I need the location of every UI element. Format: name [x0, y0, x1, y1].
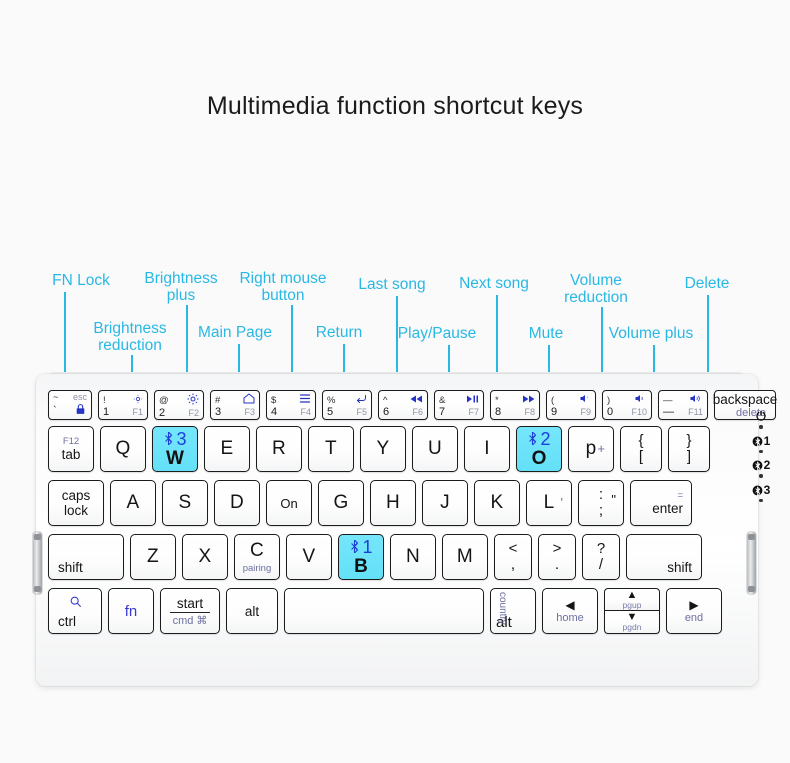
key-o[interactable]: 2O [516, 426, 562, 472]
key-sublabel: pairing [243, 563, 272, 574]
key-label: enter [652, 501, 683, 516]
key-legend-bot-left: 7 [439, 407, 445, 418]
key-e[interactable]: E [204, 426, 250, 472]
key-right-arrow[interactable]: ▶end [666, 588, 722, 634]
callout-label-next-song: Next song [459, 275, 529, 292]
key-fn[interactable]: fn [108, 588, 154, 634]
arrow-glyph: ▲ [627, 590, 638, 600]
key-7-f7[interactable]: &7F7 [434, 390, 484, 420]
key-cap: T [325, 438, 337, 460]
indicator-led [759, 450, 763, 454]
indicator-led [759, 425, 763, 429]
key-legend-bot-right: F7 [468, 407, 479, 418]
key-legend-top-left: % [327, 395, 335, 406]
key-d[interactable]: D [214, 480, 260, 526]
key-legend-top-left: @ [159, 395, 169, 406]
key-legend-bot-left: 3 [215, 407, 221, 418]
key-enter[interactable]: =enter [630, 480, 692, 526]
indicator-symbol: 2 [764, 459, 771, 472]
callout-label-volume-plus: Volume plus [609, 325, 693, 342]
key-legend-upper: } [686, 433, 691, 449]
key-label: backspace [713, 392, 778, 407]
key-p[interactable]: p+ [568, 426, 614, 472]
callout-label-return: Return [316, 324, 363, 341]
key-tab[interactable]: F12tab [48, 426, 94, 472]
arrow-glyph: ◀ [565, 598, 574, 612]
key-legend-bot-right: F1 [132, 407, 143, 418]
next-track-icon [522, 394, 535, 407]
key-v[interactable]: V [286, 534, 332, 580]
key-cap: G [333, 492, 348, 514]
key-cap: C [250, 540, 264, 562]
key-9-f9[interactable]: (9F9 [546, 390, 596, 420]
key-legend-upper: : [599, 487, 603, 503]
key-sublabel: home [556, 612, 584, 624]
lock-icon [74, 403, 87, 419]
key-legend-bot-right: F11 [688, 407, 703, 418]
key-sublabel-top: = [677, 490, 683, 501]
key-ctrl[interactable]: ctrl [48, 588, 102, 634]
key-z[interactable]: Z [130, 534, 176, 580]
key-sublabel: end [685, 612, 703, 624]
volume-down-icon [634, 393, 647, 407]
key-cap: E [221, 438, 234, 460]
key-slash[interactable]: ?/ [582, 534, 620, 580]
key-q[interactable]: Q [100, 426, 146, 472]
callout-label-fn-lock: FN Lock [52, 272, 110, 289]
key-cap: L [544, 492, 555, 514]
hinge-right [747, 532, 756, 594]
key-j[interactable]: J [422, 480, 468, 526]
key-cap: R [272, 438, 286, 460]
key-bracket-right[interactable]: }] [668, 426, 710, 472]
key-legend-bot-right: F4 [300, 407, 311, 418]
key-legend-bot-left: 5 [327, 407, 333, 418]
key-cap: Q [115, 438, 130, 460]
bottom-row: ctrlfnstartcmd ⌘altcountryalt◀home▲pgup▼… [48, 588, 722, 634]
key-label: start [177, 596, 203, 611]
key-a[interactable]: A [110, 480, 156, 526]
key-label: shift [667, 560, 701, 579]
bluetooth-icon [163, 430, 174, 448]
key-label: tab [62, 447, 81, 462]
key-shift-left[interactable]: shift [48, 534, 124, 580]
key-cap: M [457, 546, 473, 568]
key-i[interactable]: I [464, 426, 510, 472]
shift-row: shiftZXCpairingV1BNM<,>.?/shift [48, 534, 702, 580]
brightness-up-icon [187, 393, 199, 408]
bluetooth-2-indicator: 2 [752, 459, 771, 478]
key-legend-bot-right: F2 [188, 408, 199, 419]
indicator-symbol: ⏻ [756, 410, 766, 423]
key-alt-right[interactable]: countryalt [490, 588, 536, 634]
key-space[interactable] [284, 588, 484, 634]
key-k[interactable]: K [474, 480, 520, 526]
key-legend-bot-left: 6 [383, 407, 389, 418]
key-legend-top-left: ! [103, 395, 106, 406]
key-legend-bot-left: 9 [551, 407, 557, 418]
key-start[interactable]: startcmd ⌘ [160, 588, 220, 634]
page-title: Multimedia function shortcut keys [0, 92, 790, 121]
key-8-f8[interactable]: *8F8 [490, 390, 540, 420]
key-cap: B [354, 557, 368, 577]
key-minus-f11[interactable]: ——F11 [658, 390, 708, 420]
key-legend-upper: ? [597, 541, 605, 557]
key-legend-top-left: — [663, 395, 673, 406]
bluetooth-3-indicator: 3 [752, 484, 771, 503]
key-legend-bot-left: 1 [103, 407, 109, 418]
key-4-f4[interactable]: $4F4 [266, 390, 316, 420]
keyboard-body: ~esc`!1F1@2F2#3F3$4F4%5F5^6F6&7F7*8F8(9F… [36, 374, 758, 686]
key-legend-top-left: # [215, 395, 220, 406]
key-legend-bot-right: F8 [524, 407, 535, 418]
key-legend-side: ' [561, 495, 563, 510]
mute-icon [579, 393, 591, 407]
key-3-f3[interactable]: #3F3 [210, 390, 260, 420]
bluetooth-channel: 3 [163, 430, 186, 448]
key-label: alt [245, 604, 259, 619]
key-n[interactable]: N [390, 534, 436, 580]
key-label: ctrl [49, 614, 76, 633]
menu-icon [299, 393, 311, 407]
key-legend-side: " [611, 492, 616, 507]
bluetooth-channel: 1 [349, 538, 372, 556]
key-cap: S [179, 492, 192, 514]
key-caps-lock[interactable]: caps lock [48, 480, 104, 526]
key-cap: D [230, 492, 244, 514]
callout-label-main-page: Main Page [198, 324, 272, 341]
key-label: fn [125, 604, 138, 619]
key-m[interactable]: M [442, 534, 488, 580]
key-legend-bot-right: F9 [580, 407, 591, 418]
key-vertical-label: country [497, 592, 508, 625]
key-sublabel-top: F12 [63, 436, 79, 447]
key-label: On [280, 496, 297, 511]
key-u[interactable]: U [412, 426, 458, 472]
key-c[interactable]: Cpairing [234, 534, 280, 580]
key-legend-bot-right: F3 [244, 407, 255, 418]
key-bracket-left[interactable]: {[ [620, 426, 662, 472]
arrow-glyph: ▶ [689, 598, 698, 612]
key-legend-bot-left: — [663, 407, 674, 418]
key-cap: N [406, 546, 420, 568]
key-t[interactable]: T [308, 426, 354, 472]
key-legend-top-left: ) [607, 395, 610, 406]
key-cap: X [199, 546, 212, 568]
callout-label-delete: Delete [685, 275, 730, 292]
callout-label-mute: Mute [529, 325, 563, 342]
bluetooth-1-indicator: 1 [752, 435, 771, 454]
key-cap: O [532, 449, 547, 469]
bluetooth-channel-number: 1 [362, 538, 372, 556]
key-legend-top-right: esc [73, 392, 87, 403]
hinge-left [33, 532, 42, 594]
key-legend-lower: [ [639, 449, 643, 465]
key-cap: p [586, 438, 597, 460]
key-label: shift [49, 560, 83, 579]
key-g[interactable]: G [318, 480, 364, 526]
key-legend-upper: > [553, 541, 562, 557]
key-legend-bot-right: F10 [631, 407, 647, 418]
key-label: caps lock [62, 488, 91, 518]
key-legend-top-left: ^ [383, 395, 387, 406]
key-legend-bot-left: 2 [159, 408, 165, 419]
key-legend-bot-left: 8 [495, 407, 501, 418]
key-l[interactable]: L' [526, 480, 572, 526]
key-shift-right[interactable]: shift [626, 534, 702, 580]
key-h[interactable]: H [370, 480, 416, 526]
key-legend-top-left: $ [271, 395, 276, 406]
key-cap: J [440, 492, 450, 514]
key-sublabel: cmd ⌘ [173, 614, 208, 627]
key-legend-lower: , [511, 557, 515, 573]
indicator-led [759, 474, 763, 478]
key-legend-bot-right: F6 [412, 407, 423, 418]
key-cap: K [491, 492, 504, 514]
status-indicator-column: ⏻123 [744, 410, 778, 502]
key-legend-lower: ; [599, 503, 603, 519]
key-cap: W [166, 449, 184, 469]
callout-label-play-pause: Play/Pause [398, 325, 476, 342]
key-sublabel: pgdn [623, 622, 642, 632]
bluetooth-icon [349, 538, 360, 556]
key-legend-lower: / [599, 557, 603, 573]
callout-label-brightness-plus: Brightness plus [144, 270, 217, 304]
power-indicator: ⏻ [756, 410, 766, 429]
key-cap: V [303, 546, 316, 568]
key-legend-side: + [597, 441, 605, 456]
home-icon [243, 393, 255, 407]
key-legend-top-left: * [495, 395, 499, 406]
key-semicolon[interactable]: :;" [578, 480, 624, 526]
key-2-f2[interactable]: @2F2 [154, 390, 204, 420]
key-up-arrow[interactable]: ▲pgup [604, 588, 660, 611]
key-legend-top-left: ( [551, 395, 554, 406]
key-s[interactable]: S [162, 480, 208, 526]
function-key-row: ~esc`!1F1@2F2#3F3$4F4%5F5^6F6&7F7*8F8(9F… [48, 390, 776, 420]
key-cap: H [386, 492, 400, 514]
key-cap: Y [377, 438, 390, 460]
bluetooth-channel-number: 2 [540, 430, 550, 448]
bluetooth-icon [527, 430, 538, 448]
indicator-led [759, 499, 763, 503]
key-6-f6[interactable]: ^6F6 [378, 390, 428, 420]
key-cap: I [484, 438, 490, 460]
key-left-arrow[interactable]: ◀home [542, 588, 598, 634]
key-1-f1[interactable]: !1F1 [98, 390, 148, 420]
key-alt-left[interactable]: alt [226, 588, 278, 634]
callout-label-volume-reduction: Volume reduction [564, 272, 628, 306]
key-legend-top-left: & [439, 395, 445, 406]
key-down-arrow[interactable]: ▼pgdn [604, 611, 660, 634]
arrow-up-down-stack: ▲pgup▼pgdn [604, 588, 660, 634]
key-legend-lower: . [555, 557, 559, 573]
key-5-f5[interactable]: %5F5 [322, 390, 372, 420]
indicator-symbol: 3 [764, 484, 771, 497]
previous-track-icon [410, 394, 423, 407]
search-icon [69, 595, 82, 612]
key-cap: U [428, 438, 442, 460]
key-legend-bot-right: F5 [356, 407, 367, 418]
key-legend-top-left: ~ [53, 392, 59, 403]
key-legend-upper: < [509, 541, 518, 557]
home-row: caps lockASDOnGHJKL':;"=enter [48, 480, 692, 526]
key-cap: A [127, 492, 140, 514]
return-icon [355, 393, 367, 407]
key-legend-bot-left: 4 [271, 407, 277, 418]
play-pause-icon [466, 394, 479, 407]
key-legend-upper: { [638, 433, 643, 449]
key-0-f10[interactable]: )0F10 [602, 390, 652, 420]
qwerty-row: F12tabQ3WERTYUI2Op+{[}] [48, 426, 710, 472]
key-legend-lower: ] [687, 449, 691, 465]
key-y[interactable]: Y [360, 426, 406, 472]
brightness-down-icon [133, 394, 143, 407]
key-cap: Z [147, 546, 159, 568]
key-r[interactable]: R [256, 426, 302, 472]
key-legend-bot-left: 0 [607, 407, 613, 418]
key-w[interactable]: 3W [152, 426, 198, 472]
key-esc[interactable]: ~esc` [48, 390, 92, 420]
bluetooth-channel: 2 [527, 430, 550, 448]
key-x[interactable]: X [182, 534, 228, 580]
arrow-glyph: ▼ [627, 612, 638, 622]
callout-label-last-song: Last song [358, 276, 425, 293]
key-comma[interactable]: <, [494, 534, 532, 580]
indicator-symbol: 1 [764, 435, 771, 448]
key-legend-bot-left: ` [53, 406, 57, 417]
volume-up-icon [689, 393, 703, 407]
bluetooth-channel-number: 3 [176, 430, 186, 448]
callout-label-right-mouse-button: Right mouse button [239, 270, 326, 304]
callout-label-brightness-reduction: Brightness reduction [93, 320, 166, 354]
key-b[interactable]: 1B [338, 534, 384, 580]
key-sublabel: pgup [623, 600, 642, 610]
key-period[interactable]: >. [538, 534, 576, 580]
key-f[interactable]: On [266, 480, 312, 526]
